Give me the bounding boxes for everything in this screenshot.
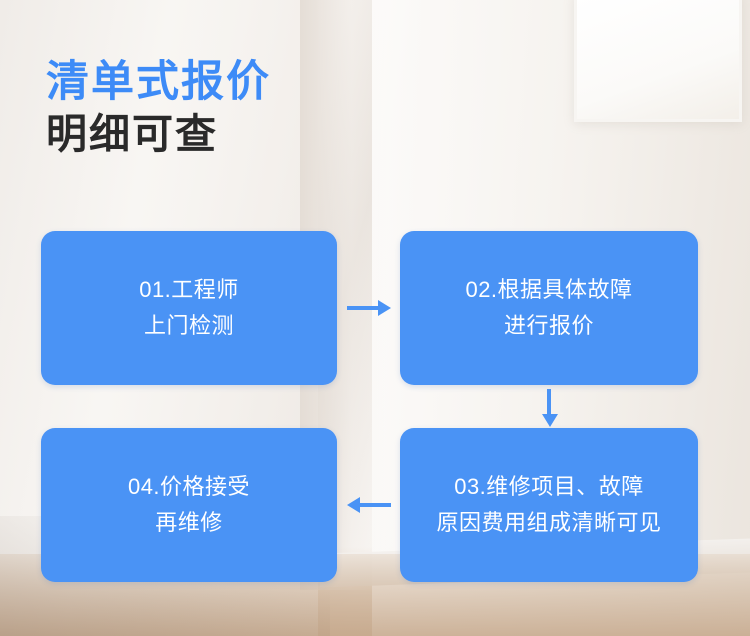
arrow-step3-to-step4-shaft bbox=[360, 503, 391, 507]
arrow-left-icon bbox=[347, 497, 360, 513]
arrow-right-icon bbox=[378, 300, 391, 316]
arrow-step1-to-step2-shaft bbox=[347, 306, 378, 310]
flow-node-step-01-line-2: 上门检测 bbox=[144, 308, 234, 344]
flow-node-step-04-line-1: 04.价格接受 bbox=[128, 469, 250, 505]
promo-banner: 清单式报价 明细可查 01.工程师 上门检测 02.根据具体故障 进行报价 03… bbox=[0, 0, 750, 636]
process-flow-diagram: 01.工程师 上门检测 02.根据具体故障 进行报价 03.维修项目、故障 原因… bbox=[0, 0, 750, 636]
flow-node-step-01[interactable]: 01.工程师 上门检测 bbox=[41, 231, 337, 385]
flow-node-step-03[interactable]: 03.维修项目、故障 原因费用组成清晰可见 bbox=[400, 428, 698, 582]
flow-node-step-03-line-2: 原因费用组成清晰可见 bbox=[436, 505, 661, 541]
arrow-step2-to-step3-shaft bbox=[547, 389, 551, 415]
flow-node-step-02[interactable]: 02.根据具体故障 进行报价 bbox=[400, 231, 698, 385]
flow-node-step-04[interactable]: 04.价格接受 再维修 bbox=[41, 428, 337, 582]
arrow-down-icon bbox=[542, 414, 558, 427]
flow-node-step-01-line-1: 01.工程师 bbox=[139, 272, 239, 308]
flow-node-step-03-line-1: 03.维修项目、故障 bbox=[454, 469, 644, 505]
flow-node-step-02-line-1: 02.根据具体故障 bbox=[465, 272, 632, 308]
flow-node-step-04-line-2: 再维修 bbox=[155, 505, 223, 541]
flow-node-step-02-line-2: 进行报价 bbox=[504, 308, 594, 344]
